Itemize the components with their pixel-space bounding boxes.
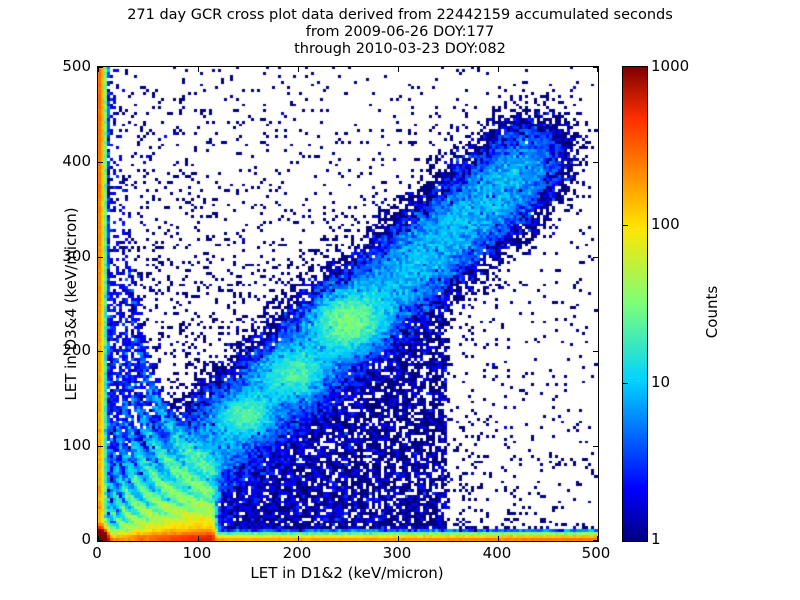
y-tick-mark: [98, 446, 103, 447]
y-tick-mark: [593, 162, 598, 163]
x-tick-mark: [398, 536, 399, 541]
x-tick-label: 100: [183, 544, 212, 562]
x-tick-mark: [498, 536, 499, 541]
colorbar-tick-mark: [623, 383, 628, 384]
plot-title: 271 day GCR cross plot data derived from…: [0, 7, 800, 58]
plot-title-line-3: through 2010-03-23 DOY:082: [0, 41, 800, 58]
y-tick-mark: [98, 162, 103, 163]
y-tick-mark: [98, 540, 103, 541]
colorbar-tick-label: 1: [651, 530, 661, 548]
y-tick-mark: [593, 67, 598, 68]
x-tick-mark: [198, 67, 199, 72]
plot-title-line-2: from 2009-06-26 DOY:177: [0, 24, 800, 41]
y-tick-mark: [98, 351, 103, 352]
x-tick-mark: [298, 67, 299, 72]
y-tick-mark: [98, 257, 103, 258]
x-tick-mark: [498, 67, 499, 72]
y-axis-title: LET in D3&4 (keV/micron): [62, 67, 80, 541]
x-axis-title: LET in D1&2 (keV/micron): [97, 564, 597, 582]
x-tick-label: 200: [283, 544, 312, 562]
x-tick-mark: [198, 536, 199, 541]
y-tick-mark: [98, 67, 103, 68]
y-tick-label: 0: [81, 530, 91, 548]
colorbar-tick-label: 10: [651, 373, 670, 391]
x-tick-label: 500: [582, 544, 611, 562]
plot-title-line-1: 271 day GCR cross plot data derived from…: [0, 7, 800, 24]
x-tick-label: 400: [483, 544, 512, 562]
x-tick-mark: [398, 67, 399, 72]
colorbar[interactable]: [622, 66, 648, 542]
y-tick-mark: [593, 540, 598, 541]
colorbar-tick-label: 100: [651, 215, 680, 233]
plot-area[interactable]: [97, 66, 599, 542]
x-tick-mark: [298, 536, 299, 541]
colorbar-tick-label: 1000: [651, 57, 689, 75]
y-tick-mark: [593, 257, 598, 258]
colorbar-gradient: [623, 67, 647, 541]
heatmap-canvas: [98, 67, 598, 541]
x-tick-label: 300: [383, 544, 412, 562]
y-tick-mark: [593, 446, 598, 447]
colorbar-title: Counts: [703, 192, 721, 432]
y-tick-mark: [593, 351, 598, 352]
x-tick-label: 0: [92, 544, 102, 562]
colorbar-tick-mark: [623, 225, 628, 226]
